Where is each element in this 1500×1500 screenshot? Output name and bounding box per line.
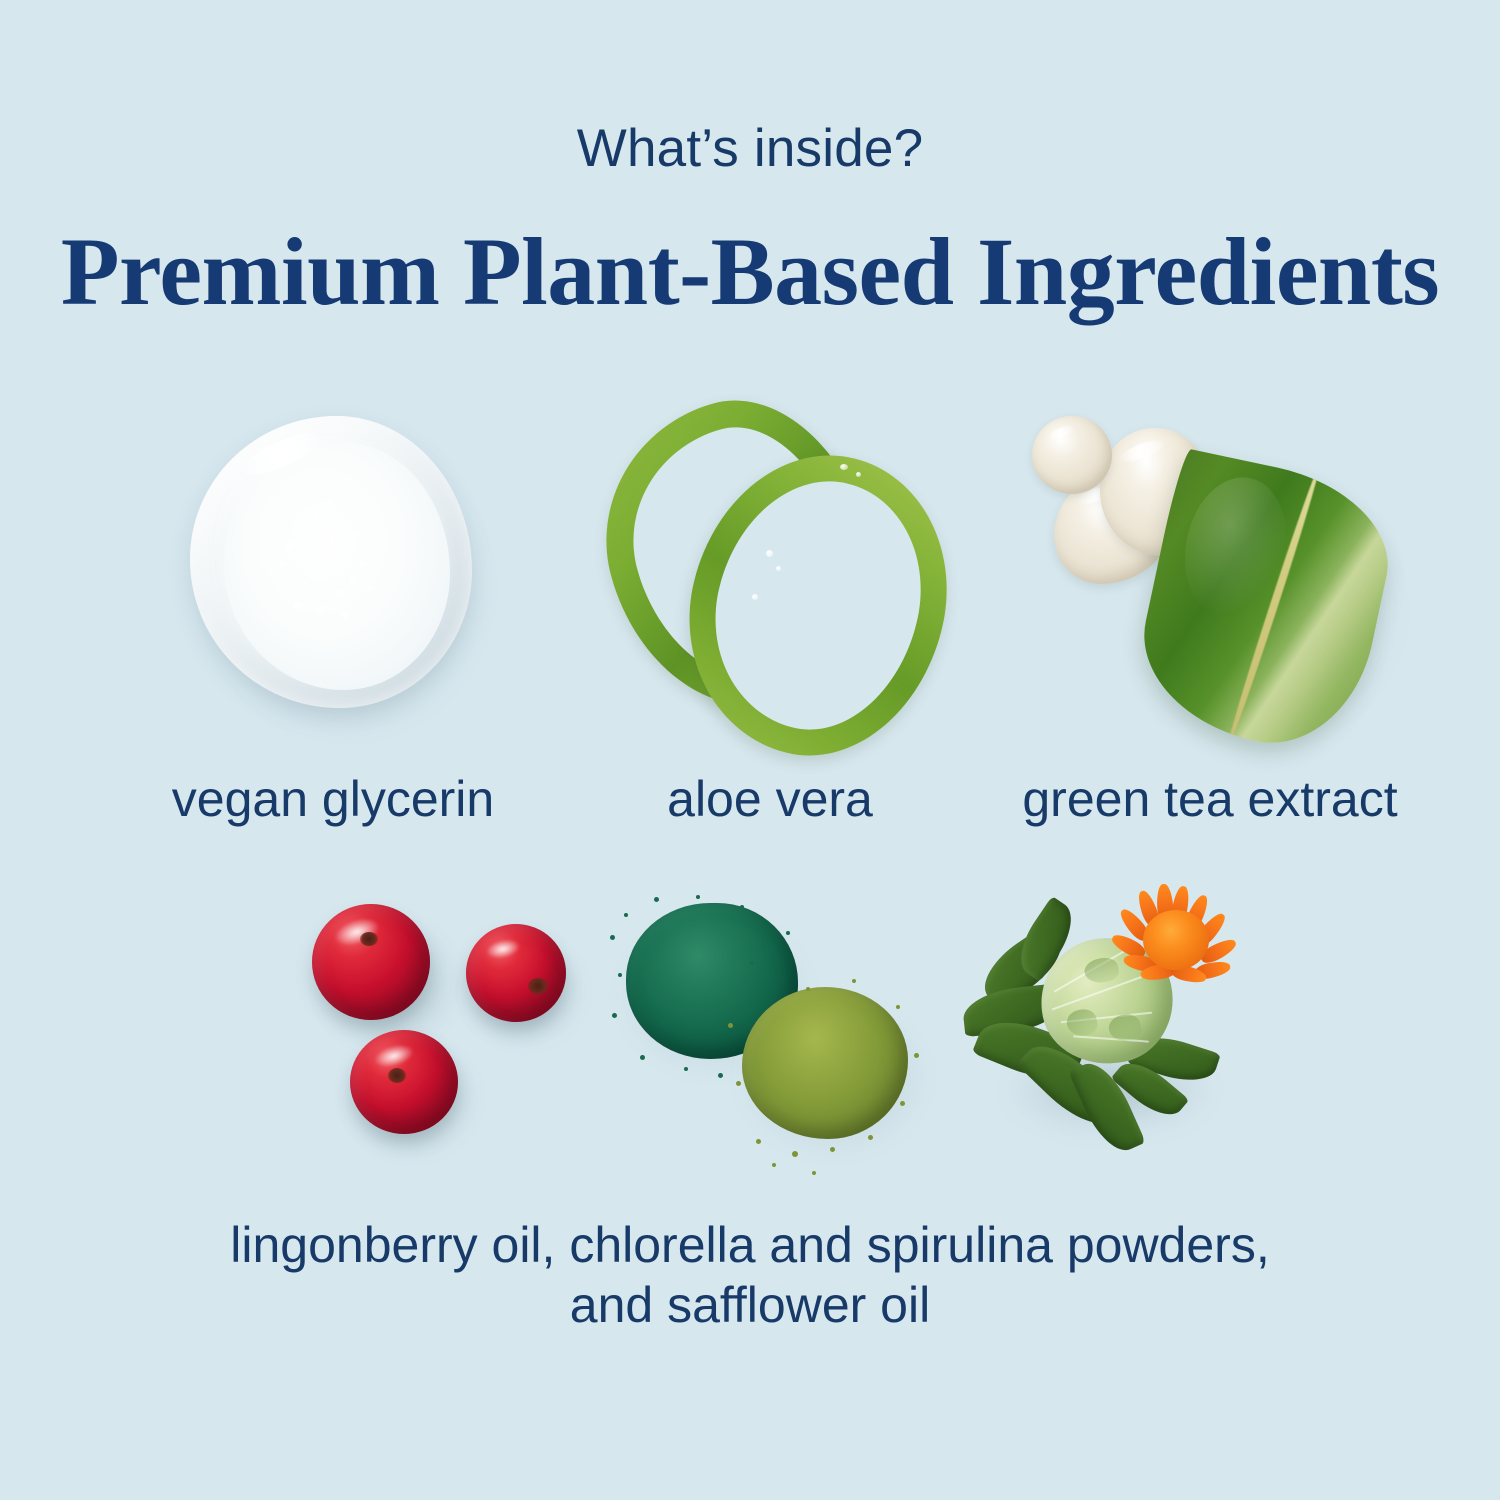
safflower-florets: [1117, 884, 1235, 992]
safflower-core: [1143, 910, 1209, 970]
safflower-photo: [955, 880, 1275, 1170]
green-tea-leaf-photo: [1010, 408, 1410, 748]
caption-line-2: and safflower oil: [0, 1275, 1500, 1335]
eyebrow-text: What’s inside?: [0, 118, 1500, 179]
ingredient-label-green-tea-extract: green tea extract: [960, 770, 1460, 828]
ingredient-label-aloe-vera: aloe vera: [560, 770, 980, 828]
lingonberry-1: [312, 904, 430, 1020]
page-title: Premium Plant-Based Ingredients: [0, 216, 1500, 327]
lingonberry-3: [350, 1030, 458, 1134]
algae-powders-photo: [600, 895, 930, 1180]
caption-line-1: lingonberry oil, chlorella and spirulina…: [0, 1215, 1500, 1275]
aloe-vera-leaf-photo: [600, 398, 920, 728]
chlorella-powder-mound: [742, 987, 908, 1139]
oil-droplet-small: [1032, 416, 1112, 494]
lingonberry-photo: [300, 890, 600, 1160]
gel-droplet-photo: [178, 408, 488, 733]
row2-caption: lingonberry oil, chlorella and spirulina…: [0, 1215, 1500, 1335]
ingredient-label-vegan-glycerin: vegan glycerin: [78, 770, 588, 828]
tea-leaf-sheen: [1172, 468, 1299, 627]
gel-droplet-inner: [224, 442, 450, 690]
lingonberry-2: [466, 924, 566, 1022]
ingredients-infographic: What’s inside? Premium Plant-Based Ingre…: [0, 0, 1500, 1500]
gel-droplet-body: [190, 416, 472, 708]
